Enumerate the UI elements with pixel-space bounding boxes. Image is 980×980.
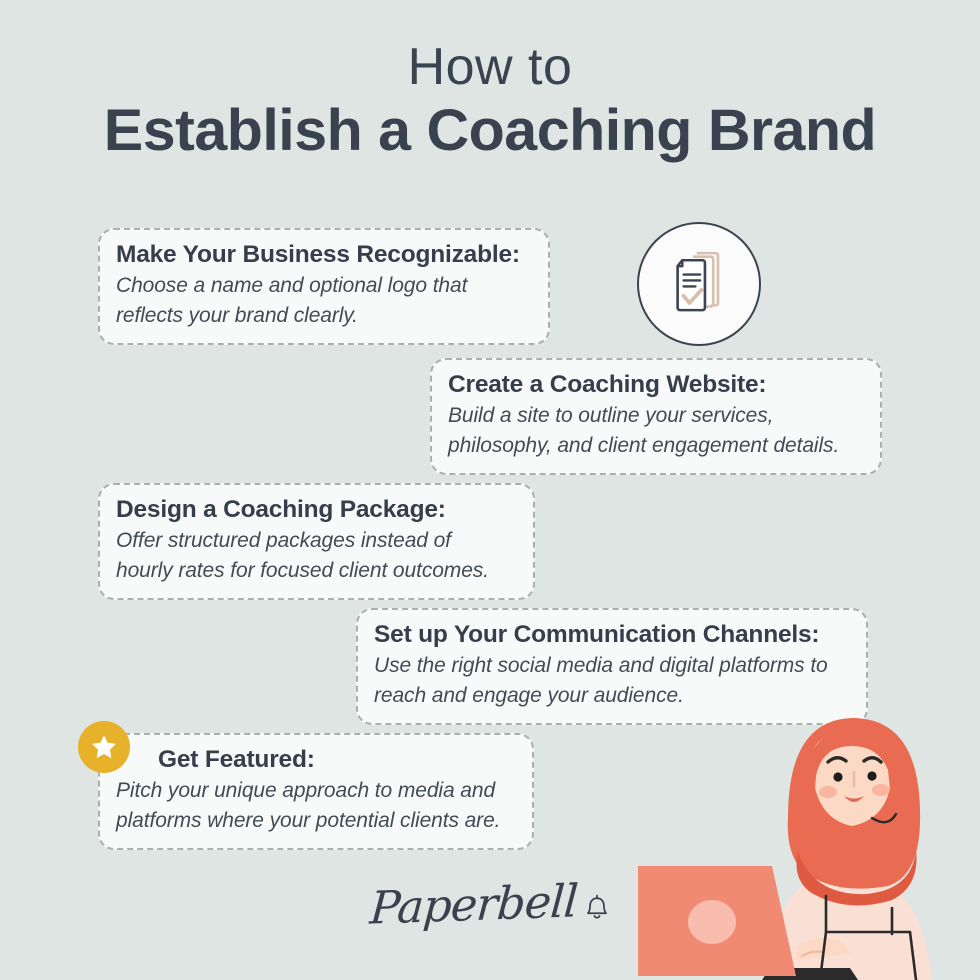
step-description-line: Choose a name and optional logo that [116, 271, 532, 301]
step-description-line: philosophy, and client engagement detail… [448, 431, 864, 461]
woman-with-laptop-illustration [620, 700, 980, 980]
star-icon [78, 721, 130, 773]
step-description-line: Use the right social media and digital p… [374, 651, 850, 681]
step-description-line: Pitch your unique approach to media and [116, 776, 516, 806]
step-title: Create a Coaching Website: [448, 370, 864, 400]
bell-icon [584, 894, 610, 924]
step-card-get-featured[interactable]: Get Featured: Pitch your unique approach… [98, 733, 534, 850]
step-description: Pitch your unique approach to media and … [116, 776, 516, 836]
step-description: Build a site to outline your services, p… [448, 401, 864, 461]
step-description-line: reflects your brand clearly. [116, 301, 532, 331]
step-title: Design a Coaching Package: [116, 495, 517, 525]
title-line-2: Establish a Coaching Brand [0, 95, 980, 168]
step-description-line: Build a site to outline your services, [448, 401, 864, 431]
paperbell-logo: Paperbell [0, 878, 980, 931]
step-description-line: Offer structured packages instead of [116, 526, 517, 556]
step-title: Make Your Business Recognizable: [116, 240, 532, 270]
step-description-line: platforms where your potential clients a… [116, 806, 516, 836]
step-card-create-a-coaching-website[interactable]: Create a Coaching Website: Build a site … [430, 358, 882, 475]
step-card-design-a-coaching-package[interactable]: Design a Coaching Package: Offer structu… [98, 483, 535, 600]
step-title: Set up Your Communication Channels: [374, 620, 850, 650]
document-check-icon [637, 222, 761, 346]
step-description: Offer structured packages instead of hou… [116, 526, 517, 586]
step-title: Get Featured: [116, 745, 516, 775]
title-line-1: How to [0, 40, 980, 95]
logo-wordmark: Paperbell [369, 874, 580, 934]
step-description-line: hourly rates for focused client outcomes… [116, 556, 517, 586]
step-card-make-your-business-recognizable[interactable]: Make Your Business Recognizable: Choose … [98, 228, 550, 345]
step-description: Choose a name and optional logo that ref… [116, 271, 532, 331]
page-title: How to Establish a Coaching Brand [0, 40, 980, 167]
